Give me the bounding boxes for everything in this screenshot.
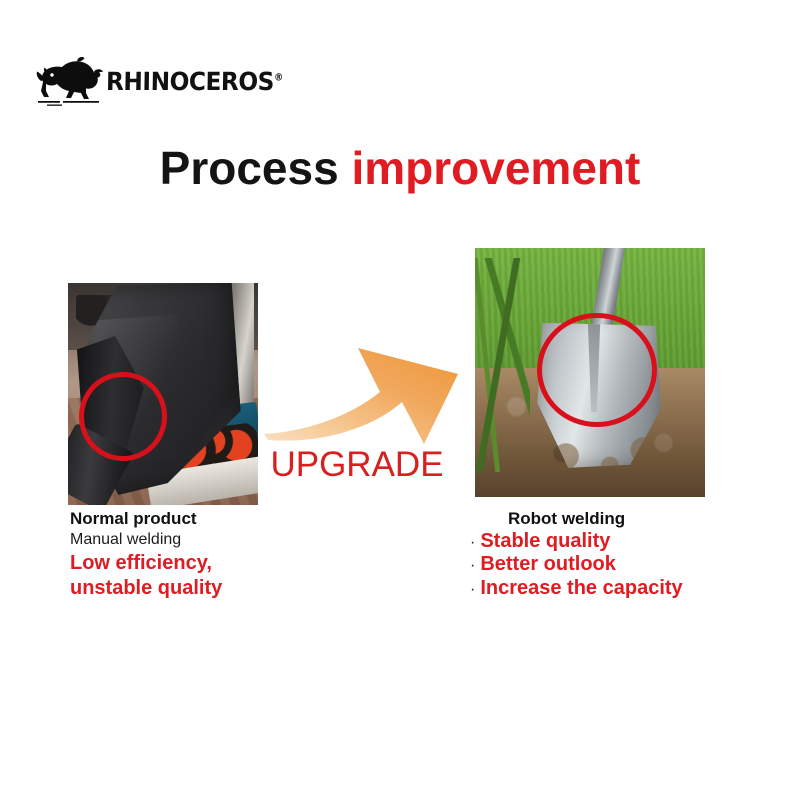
list-item: · Better outlook [470,553,780,577]
after-benefit-1: Stable quality [480,530,610,554]
before-drawback-line-1: Low efficiency, [70,552,330,576]
red-circle-highlight-icon [79,372,166,461]
after-benefit-2: Better outlook [480,553,616,577]
bullet-dot-icon: · [470,582,475,598]
page-title-black-part: Process [160,142,339,194]
red-circle-highlight-icon [537,313,657,428]
after-caption: Robot welding · Stable quality · Better … [470,509,780,601]
before-caption: Normal product Manual welding Low effici… [70,509,330,601]
before-photo [68,283,258,505]
brand-wordmark: RHINOCEROS® [106,69,283,94]
rhinoceros-logo-icon [34,56,104,106]
page-title-red-part: improvement [351,142,640,194]
after-photo [475,248,705,497]
brand-wordmark-text: RHINOCEROS [106,67,274,96]
upgrade-transition: UPGRADE [262,340,472,500]
bullet-dot-icon: · [470,558,475,574]
before-title: Normal product [70,509,330,530]
before-subtitle: Manual welding [70,530,330,550]
brand-logo: RHINOCEROS® [34,55,244,107]
page-title: Process improvement [0,143,800,194]
bullet-dot-icon: · [470,535,475,551]
curved-upgrade-arrow-icon [262,340,472,448]
list-item: · Increase the capacity [470,577,780,601]
list-item: · Stable quality [470,530,780,554]
garden-weeds [475,258,530,472]
after-benefit-3: Increase the capacity [480,577,682,601]
after-title: Robot welding [470,509,780,530]
registered-trademark-icon: ® [274,72,283,83]
upgrade-label: UPGRADE [262,446,452,485]
before-drawback-line-2: unstable quality [70,577,330,601]
